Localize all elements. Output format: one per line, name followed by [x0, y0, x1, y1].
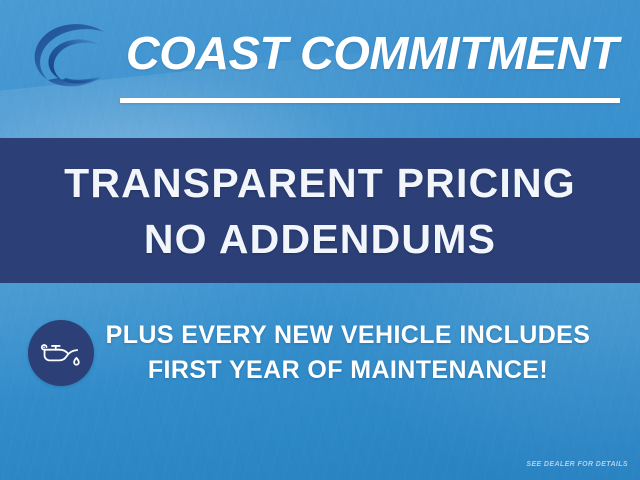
offer-text-block: PLUS EVERY NEW VEHICLE INCLUDES FIRST YE… — [98, 318, 598, 388]
coast-commitment-banner: COAST COMMITMENT TRANSPARENT PRICING NO … — [0, 0, 640, 480]
offer-line-2: FIRST YEAR OF MAINTENANCE! — [98, 353, 598, 388]
page-title: COAST COMMITMENT — [117, 24, 627, 82]
disclaimer-text: SEE DEALER FOR DETAILS — [526, 460, 628, 469]
headline-line-2: NO ADDENDUMS — [144, 211, 496, 267]
offer-line-1: PLUS EVERY NEW VEHICLE INCLUDES — [98, 318, 598, 353]
header-divider-rule — [120, 98, 620, 103]
offer-row: PLUS EVERY NEW VEHICLE INCLUDES FIRST YE… — [0, 318, 640, 388]
oil-can-icon — [28, 320, 94, 386]
coast-wave-logo-icon — [22, 18, 118, 92]
headline-line-1: TRANSPARENT PRICING — [64, 155, 576, 211]
banner-header: COAST COMMITMENT — [0, 0, 640, 138]
headline-band: TRANSPARENT PRICING NO ADDENDUMS — [0, 138, 640, 283]
